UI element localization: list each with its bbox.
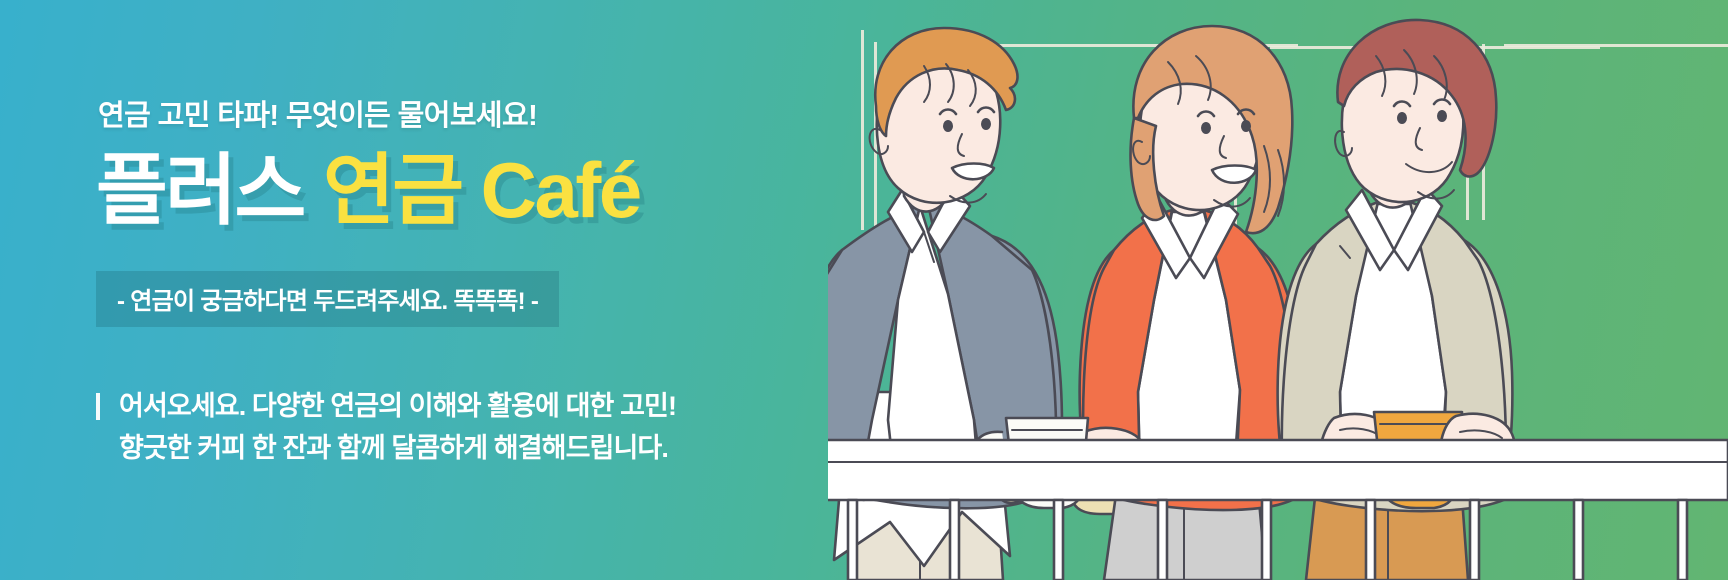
headline-yellow-part: 연금 Café: [323, 146, 640, 234]
banner-copy: 연금 고민 타파! 무엇이든 물어보세요! 플러스 연금 Café - 연금이 …: [96, 0, 796, 580]
cafe-illustration: .ln { fill:none; stroke:#4b4b55; stroke-…: [828, 0, 1728, 580]
banner-headline: 플러스 연금 Café: [96, 150, 640, 232]
body-marker-bar: [96, 393, 100, 420]
body-text: 어서오세요. 다양한 연금의 이해와 활용에 대한 고민! 향긋한 커피 한 잔…: [119, 386, 676, 470]
banner-body: 어서오세요. 다양한 연금의 이해와 활용에 대한 고민! 향긋한 커피 한 잔…: [96, 386, 676, 470]
promo-banner: 연금 고민 타파! 무엇이든 물어보세요! 플러스 연금 Café - 연금이 …: [0, 0, 1728, 580]
banner-tagline: 연금 고민 타파! 무엇이든 물어보세요!: [98, 92, 537, 134]
body-line-1: 어서오세요. 다양한 연금의 이해와 활용에 대한 고민!: [119, 386, 676, 428]
headline-white-part: 플러스: [96, 146, 304, 234]
status-badge: - 연금이 궁금하다면 두드려주세요. 똑똑똑! -: [96, 271, 559, 327]
body-line-2: 향긋한 커피 한 잔과 함께 달콤하게 해결해드립니다.: [119, 428, 676, 470]
